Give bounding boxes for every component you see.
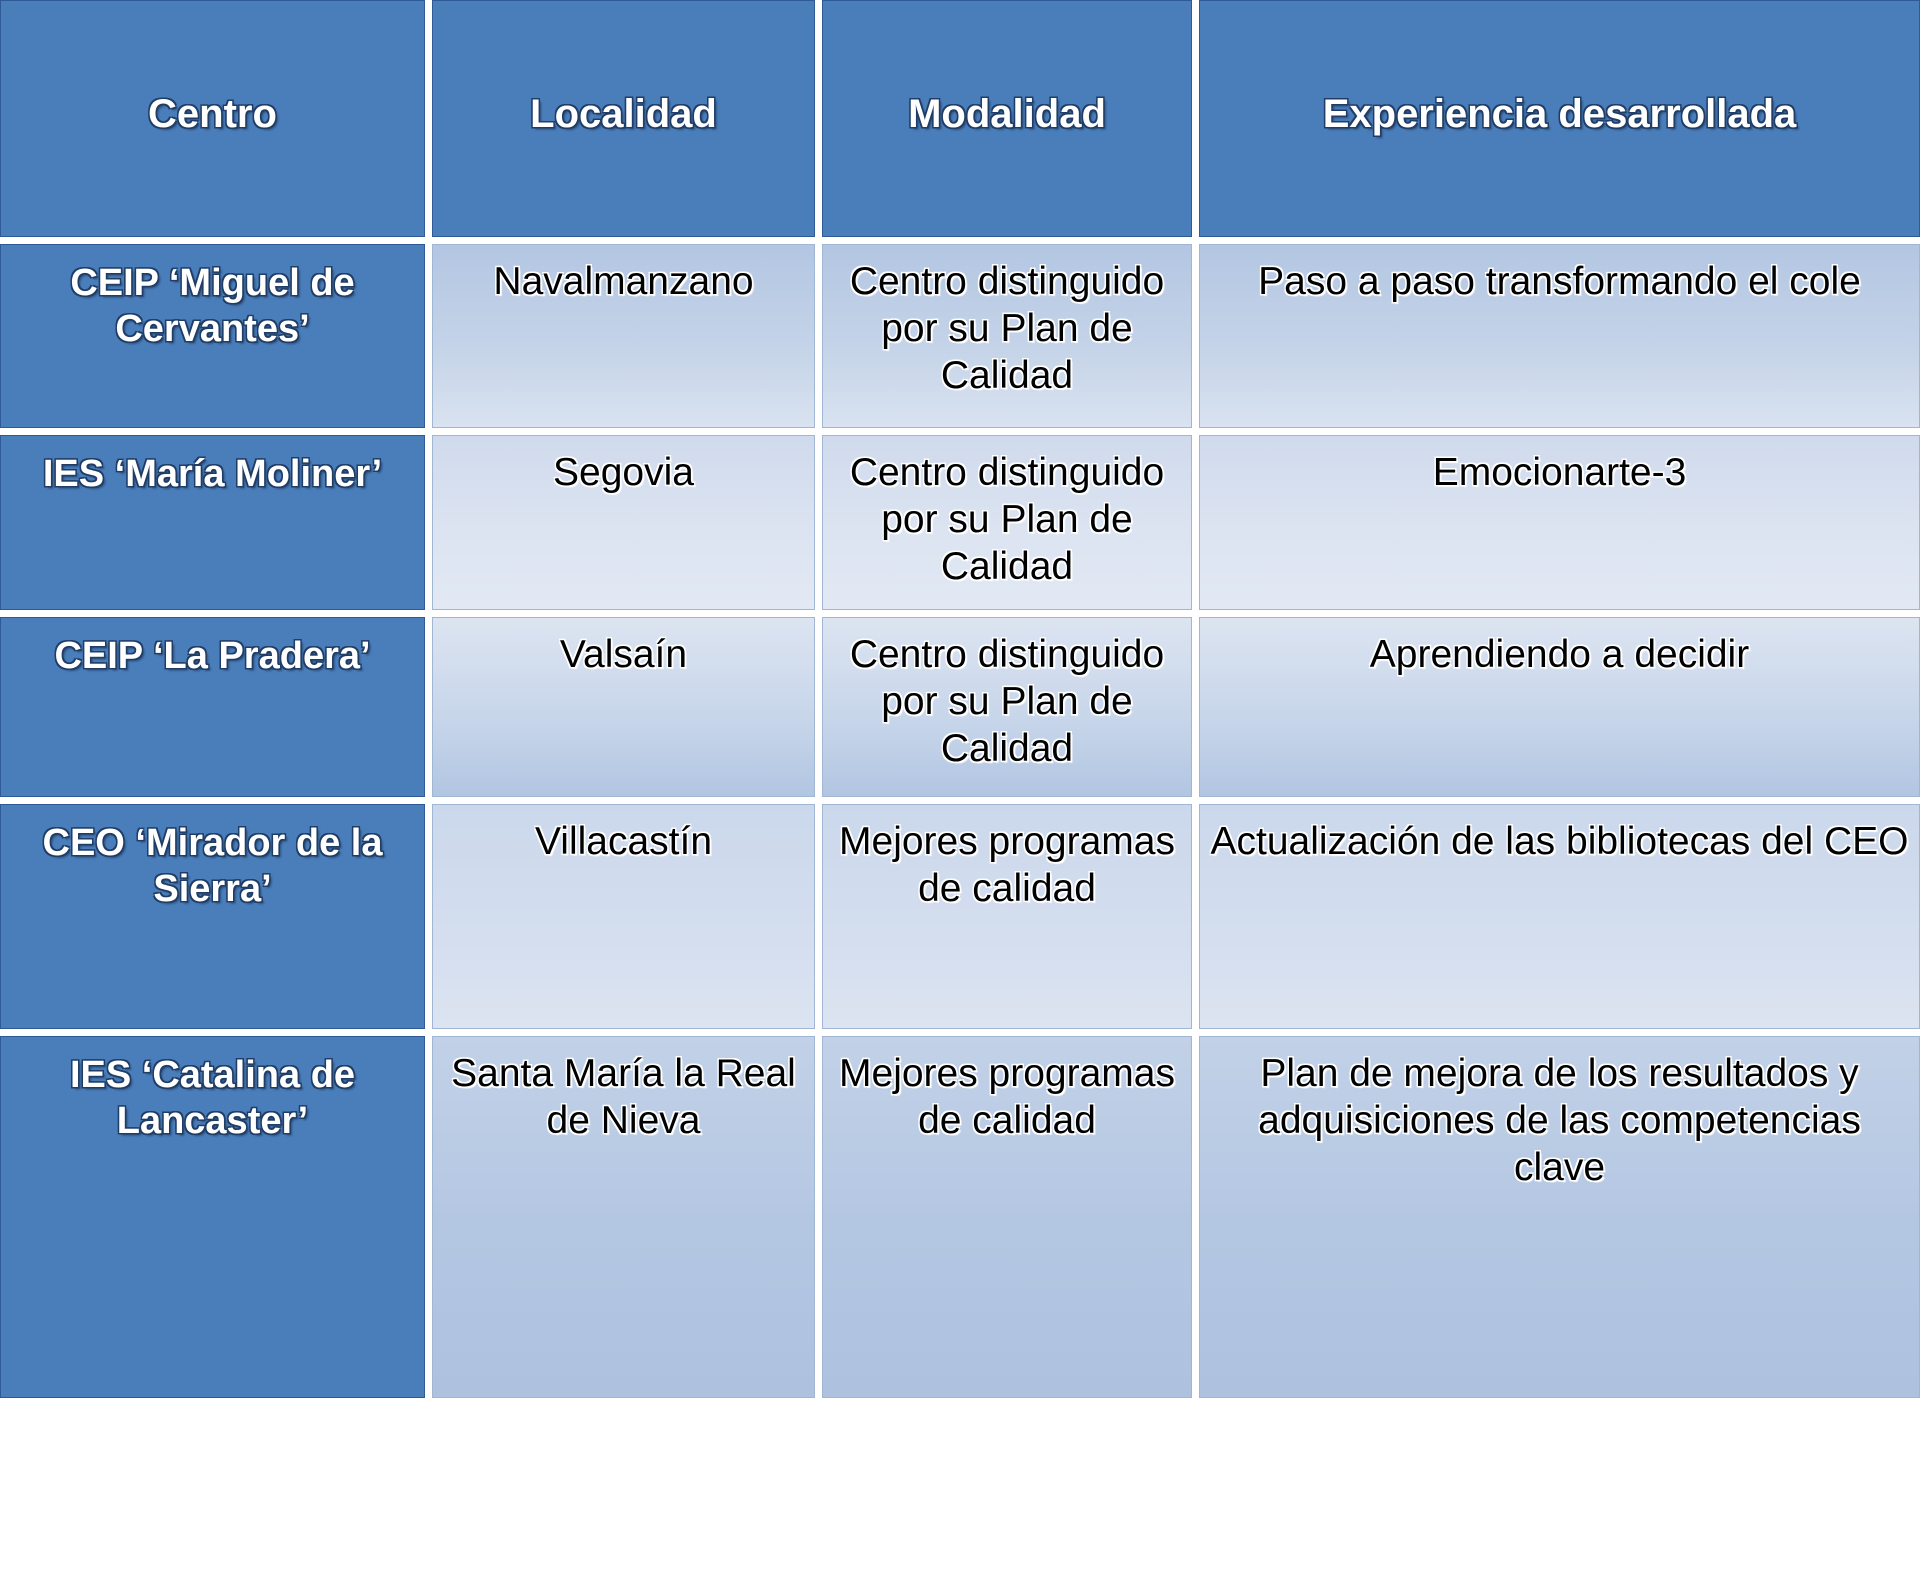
column-header-experiencia-desarrollada: Experiencia desarrollada: [1199, 0, 1920, 237]
column-header-modalidad: Modalidad: [822, 0, 1192, 237]
centros-experiencias-table: Centro Localidad Modalidad Experiencia d…: [0, 0, 1920, 1582]
cell-experiencia-text: Aprendiendo a decidir: [1210, 632, 1909, 679]
cell-experiencia: Paso a paso transformando el cole: [1199, 244, 1920, 428]
cell-experiencia-text: Paso a paso transformando el cole: [1210, 259, 1909, 306]
column-header-centro: Centro: [0, 0, 425, 237]
table-row: IES ‘María Moliner’ Segovia Centro disti…: [0, 435, 1920, 610]
cell-modalidad-text: Centro distinguido por su Plan de Calida…: [833, 259, 1181, 399]
cell-modalidad: Mejores programas de calidad: [822, 1036, 1192, 1398]
cell-centro-text: IES ‘Catalina de Lancaster’: [11, 1053, 414, 1144]
cell-modalidad: Mejores programas de calidad: [822, 804, 1192, 1029]
cell-localidad: Segovia: [432, 435, 815, 610]
table-row: CEO ‘Mirador de la Sierra’ Villacastín M…: [0, 804, 1920, 1029]
table-header-row: Centro Localidad Modalidad Experiencia d…: [0, 0, 1920, 237]
cell-experiencia: Aprendiendo a decidir: [1199, 617, 1920, 797]
cell-localidad-text: Segovia: [443, 450, 804, 497]
cell-modalidad-text: Centro distinguido por su Plan de Calida…: [833, 450, 1181, 590]
cell-localidad-text: Navalmanzano: [443, 259, 804, 306]
cell-centro-text: CEO ‘Mirador de la Sierra’: [11, 821, 414, 912]
column-header-centro-label: Centro: [11, 90, 414, 138]
cell-localidad-text: Villacastín: [443, 819, 804, 866]
cell-centro: CEIP ‘La Pradera’: [0, 617, 425, 797]
cell-centro-text: CEIP ‘La Pradera’: [11, 634, 414, 680]
cell-modalidad-text: Mejores programas de calidad: [833, 1051, 1181, 1145]
cell-modalidad: Centro distinguido por su Plan de Calida…: [822, 435, 1192, 610]
cell-modalidad-text: Mejores programas de calidad: [833, 819, 1181, 913]
cell-localidad: Santa María la Real de Nieva: [432, 1036, 815, 1398]
column-header-localidad-label: Localidad: [443, 90, 804, 138]
table-row: CEIP ‘Miguel de Cervantes’ Navalmanzano …: [0, 244, 1920, 428]
cell-experiencia: Plan de mejora de los resultados y adqui…: [1199, 1036, 1920, 1398]
cell-experiencia-text: Emocionarte-3: [1210, 450, 1909, 497]
cell-experiencia-text: Actualización de las bibliotecas del CEO: [1210, 819, 1909, 866]
cell-centro: CEIP ‘Miguel de Cervantes’: [0, 244, 425, 428]
cell-modalidad: Centro distinguido por su Plan de Calida…: [822, 617, 1192, 797]
cell-centro: IES ‘María Moliner’: [0, 435, 425, 610]
cell-centro: IES ‘Catalina de Lancaster’: [0, 1036, 425, 1398]
table-row: IES ‘Catalina de Lancaster’ Santa María …: [0, 1036, 1920, 1398]
cell-localidad-text: Santa María la Real de Nieva: [443, 1051, 804, 1145]
cell-modalidad-text: Centro distinguido por su Plan de Calida…: [833, 632, 1181, 772]
cell-experiencia: Actualización de las bibliotecas del CEO: [1199, 804, 1920, 1029]
cell-experiencia-text: Plan de mejora de los resultados y adqui…: [1210, 1051, 1909, 1191]
cell-centro-text: IES ‘María Moliner’: [11, 452, 414, 498]
cell-centro: CEO ‘Mirador de la Sierra’: [0, 804, 425, 1029]
cell-localidad-text: Valsaín: [443, 632, 804, 679]
column-header-experiencia-desarrollada-label: Experiencia desarrollada: [1210, 90, 1909, 138]
table-row: CEIP ‘La Pradera’ Valsaín Centro disting…: [0, 617, 1920, 797]
column-header-localidad: Localidad: [432, 0, 815, 237]
cell-localidad: Valsaín: [432, 617, 815, 797]
cell-centro-text: CEIP ‘Miguel de Cervantes’: [11, 261, 414, 352]
cell-localidad: Navalmanzano: [432, 244, 815, 428]
cell-experiencia: Emocionarte-3: [1199, 435, 1920, 610]
cell-localidad: Villacastín: [432, 804, 815, 1029]
cell-modalidad: Centro distinguido por su Plan de Calida…: [822, 244, 1192, 428]
column-header-modalidad-label: Modalidad: [833, 90, 1181, 138]
